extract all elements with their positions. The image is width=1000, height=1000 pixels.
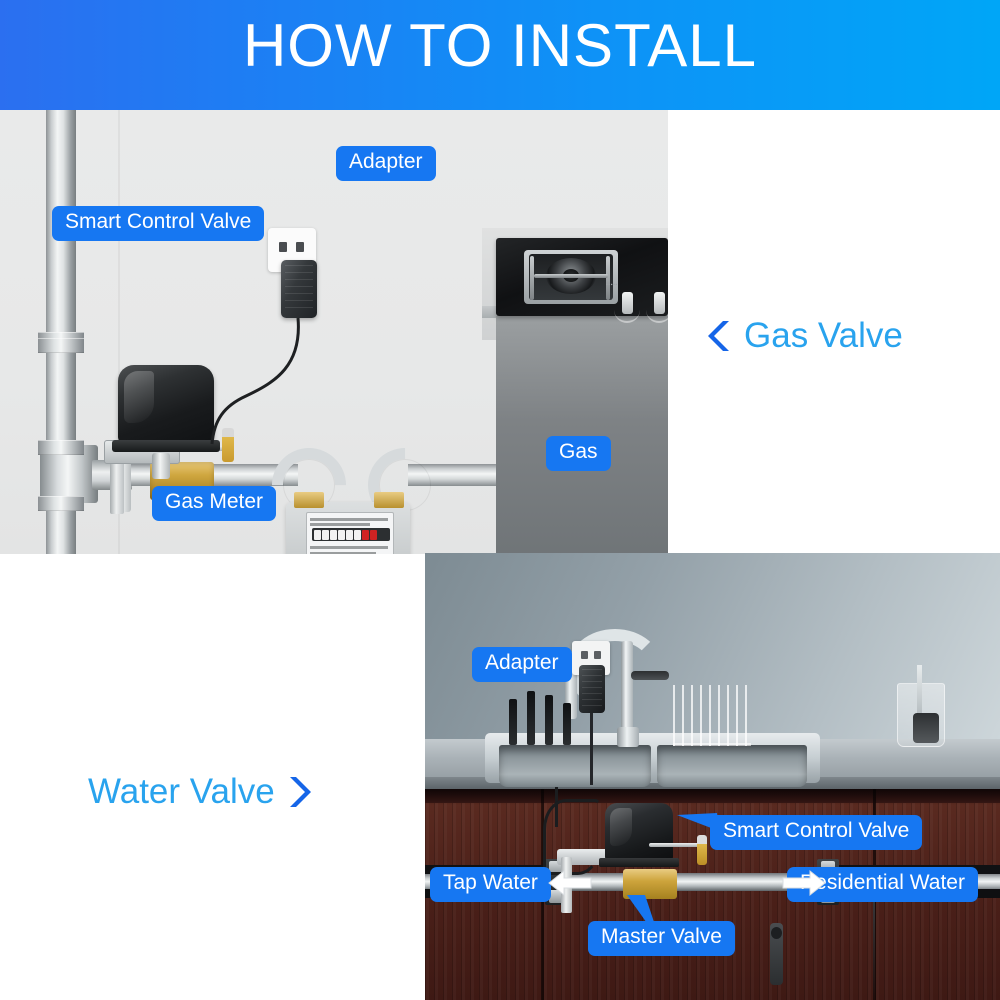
meter-print-line — [310, 518, 388, 521]
burner-grate — [606, 256, 610, 300]
cabinet-top-shadow — [425, 789, 1000, 805]
water-valve-heading-text: Water Valve — [88, 772, 275, 812]
valve-base-plate — [599, 858, 679, 867]
label-adapter: Adapter — [336, 146, 436, 181]
faucet-lever-handle — [631, 671, 669, 680]
water-installation-photo: Adapter Smart Control Valve Residential … — [425, 553, 1000, 1000]
smart-control-valve-actuator — [605, 803, 673, 861]
faucet-base — [617, 727, 639, 747]
label-tap-water: Tap Water — [430, 867, 551, 902]
chevron-right-icon — [287, 775, 313, 809]
burner-grate — [530, 256, 534, 300]
smart-control-valve-actuator — [118, 365, 214, 443]
meter-digit — [314, 530, 321, 540]
meter-digit-decimal — [362, 530, 369, 540]
knife — [563, 703, 571, 745]
stove-knob — [654, 292, 665, 314]
label-gas-meter: Gas Meter — [152, 486, 276, 521]
meter-print-line — [310, 552, 376, 554]
page-title: HOW TO INSTALL — [0, 16, 1000, 76]
meter-outlet-nut — [374, 492, 404, 508]
sink-basin-right — [657, 745, 807, 787]
outlet-slot — [594, 651, 601, 659]
meter-digit-decimal — [370, 530, 377, 540]
label-smart-control-valve: Smart Control Valve — [710, 815, 922, 850]
stove-brand-mark: ▪▪▪▪▪ — [606, 282, 618, 288]
gas-installation-photo: ▪▪▪▪▪ Smart Control Valve Adapter Gas Me… — [0, 110, 668, 554]
label-gas: Gas — [546, 436, 611, 471]
riser-band — [38, 338, 84, 353]
meter-digit — [354, 530, 361, 540]
gas-meter-dial-readout — [312, 528, 390, 541]
header-banner: HOW TO INSTALL — [0, 0, 1000, 110]
meter-print-line — [310, 546, 388, 549]
knife — [527, 691, 535, 745]
soap-dispenser — [913, 713, 939, 743]
infographic-page: HOW TO INSTALL — [0, 0, 1000, 1000]
cabinet-front-panel — [496, 316, 668, 554]
meter-digit — [346, 530, 353, 540]
stove-knob — [622, 292, 633, 314]
valve-base-plate — [112, 440, 220, 452]
cabinet-door-handle — [770, 923, 783, 985]
meter-digit — [338, 530, 345, 540]
adapter-power-cord — [206, 310, 316, 450]
label-adapter: Adapter — [472, 647, 572, 682]
gas-valve-heading-text: Gas Valve — [744, 316, 903, 356]
dish-drying-rack — [673, 685, 751, 746]
knife — [509, 699, 517, 745]
gas-valve-heading: Gas Valve — [706, 316, 903, 356]
knife — [545, 695, 553, 745]
label-master-valve: Master Valve — [588, 921, 735, 956]
chevron-left-icon — [706, 319, 732, 353]
meter-print-line — [310, 523, 370, 526]
meter-inlet-nut — [294, 492, 324, 508]
label-smart-control-valve: Smart Control Valve — [52, 206, 264, 241]
meter-digit — [322, 530, 329, 540]
tap-water-flow-arrow-icon — [547, 869, 593, 897]
burner-grate — [534, 274, 608, 278]
valve-mount-leg — [110, 462, 124, 514]
power-adapter — [579, 665, 605, 713]
adapter-power-cord — [590, 711, 593, 785]
residential-water-flow-arrow-icon — [781, 869, 827, 897]
outlet-slot — [296, 242, 304, 252]
riser-band — [38, 496, 84, 511]
riser-band — [38, 440, 84, 455]
outlet-slot — [581, 651, 588, 659]
water-valve-heading: Water Valve — [88, 772, 313, 812]
sink-basin-left — [499, 745, 651, 787]
valve-stem — [152, 453, 170, 479]
meter-digit — [330, 530, 337, 540]
valve-handle-knob — [697, 835, 707, 865]
outlet-slot — [279, 242, 287, 252]
